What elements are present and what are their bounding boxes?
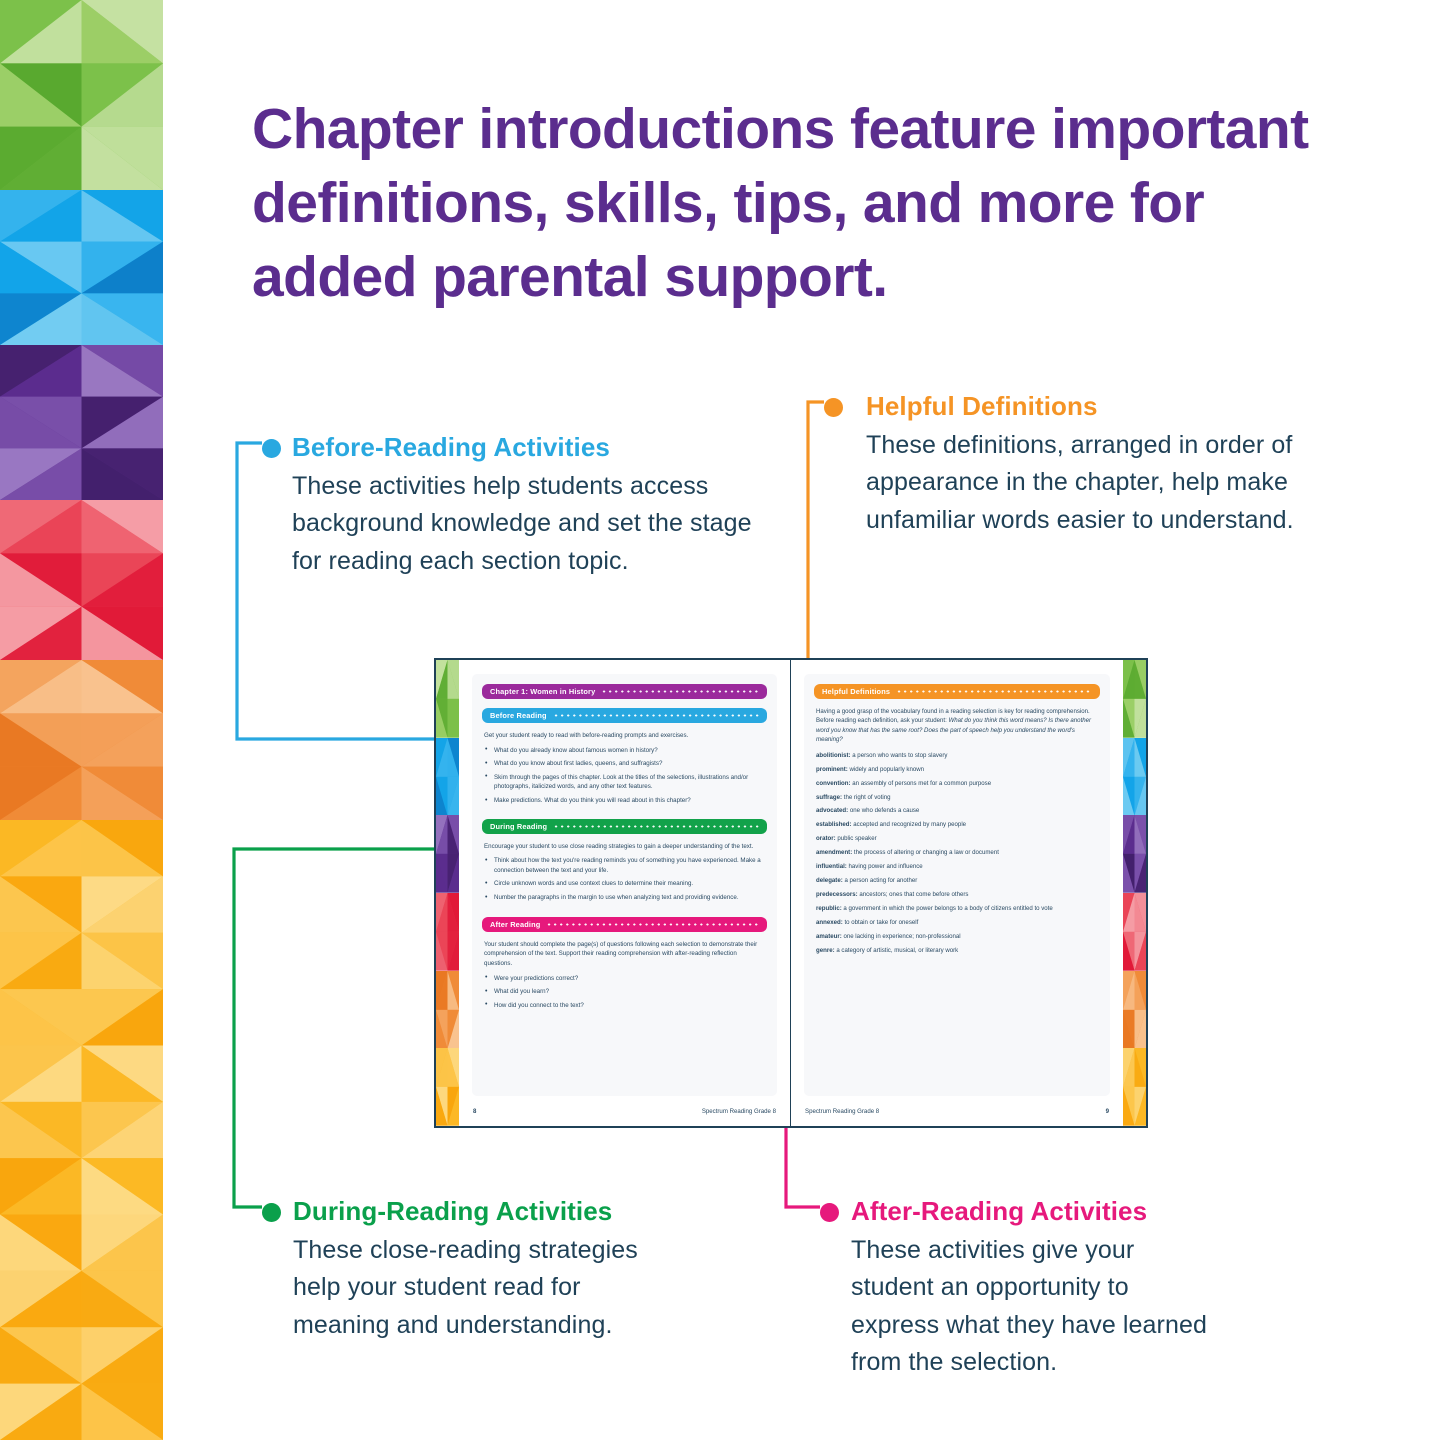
section-bar-dots — [546, 921, 759, 928]
page-edge-band-red — [436, 893, 459, 971]
section-bar-dots — [553, 712, 759, 719]
definition-row: predecessors: ancestors; ones that come … — [816, 891, 1098, 900]
section-intro: Encourage your student to use close read… — [484, 842, 765, 852]
definition-row: influential: having power and influence — [816, 863, 1098, 872]
list-item: What do you know about first ladies, que… — [482, 759, 767, 769]
page-edge-band-yellow — [436, 1048, 459, 1126]
definition-row: advocated: one who defends a cause — [816, 807, 1098, 816]
section-list-before: What do you already know about famous wo… — [482, 746, 767, 806]
page-content-panel: Helpful Definitions Having a good grasp … — [804, 674, 1110, 1096]
section-bar-dots — [553, 823, 759, 830]
callout-before-reading: Before-Reading Activities These activiti… — [292, 433, 762, 580]
callout-body: These definitions, arranged in order of … — [866, 427, 1356, 540]
callout-title: During-Reading Activities — [293, 1197, 653, 1226]
section-bar-label: Helpful Definitions — [822, 687, 890, 696]
page-edge-band-blue — [436, 738, 459, 816]
callout-helpful-definitions: Helpful Definitions These definitions, a… — [866, 392, 1356, 539]
callout-dot-before-icon — [262, 439, 281, 458]
callout-body: These close-reading strategies help your… — [293, 1232, 653, 1345]
list-item: Think about how the text you're reading … — [482, 856, 767, 875]
list-item: What do you already know about famous wo… — [482, 746, 767, 756]
definition-term: suffrage: — [816, 794, 842, 801]
definitions-list: abolitionist: a person who wants to stop… — [816, 752, 1098, 956]
book-spread-image: Chapter 1: Women in History Before Readi… — [434, 658, 1148, 1128]
definition-row: suffrage: the right of voting — [816, 794, 1098, 803]
callout-body: These activities give your student an op… — [851, 1232, 1211, 1382]
definition-term: amendment: — [816, 849, 852, 856]
callout-title: After-Reading Activities — [851, 1197, 1211, 1226]
section-bar-helpful-definitions: Helpful Definitions — [814, 684, 1100, 699]
definition-term: orator: — [816, 835, 836, 842]
page-edge-band-purple — [436, 815, 459, 893]
page-edge-band-red — [1123, 893, 1146, 971]
page-footer-right: Spectrum Reading Grade 8 9 — [791, 1096, 1123, 1126]
definition-term: republic: — [816, 905, 842, 912]
page-edge-band-green — [436, 660, 459, 738]
color-band-blue — [0, 190, 163, 345]
definition-row: amendment: the process of altering or ch… — [816, 849, 1098, 858]
list-item: Were your predictions correct? — [482, 974, 767, 984]
definition-term: abolitionist: — [816, 752, 851, 759]
page-edge-band-yellow — [1123, 1048, 1146, 1126]
definition-term: delegate: — [816, 877, 843, 884]
section-intro: Get your student ready to read with befo… — [484, 731, 765, 741]
page-edge-pattern — [1123, 660, 1146, 1126]
callout-dot-helpful-icon — [824, 398, 843, 417]
callout-title: Helpful Definitions — [866, 392, 1356, 421]
page-edge-band-orange — [1123, 971, 1146, 1049]
section-bar-chapter: Chapter 1: Women in History — [482, 684, 767, 699]
list-item: Skim through the pages of this chapter. … — [482, 773, 767, 792]
page-content-panel: Chapter 1: Women in History Before Readi… — [472, 674, 777, 1096]
callout-dot-during-icon — [262, 1203, 281, 1222]
page-edge-band-green — [1123, 660, 1146, 738]
definition-row: annexed: to obtain or take for oneself — [816, 919, 1098, 928]
page-number: 9 — [1106, 1108, 1109, 1115]
list-item: What did you learn? — [482, 987, 767, 997]
callout-after-reading: After-Reading Activities These activitie… — [851, 1197, 1211, 1382]
page-edge-band-blue — [1123, 738, 1146, 816]
definition-term: established: — [816, 821, 852, 828]
color-band-orange — [0, 660, 163, 820]
definition-row: republic: a government in which the powe… — [816, 905, 1098, 914]
page-number: 8 — [473, 1108, 476, 1115]
color-band-yellow — [0, 820, 163, 1440]
section-intro: Your student should complete the page(s)… — [484, 940, 765, 969]
callout-body: These activities help students access ba… — [292, 468, 762, 581]
definition-term: annexed: — [816, 919, 843, 926]
page-edge-band-orange — [436, 971, 459, 1049]
list-item: How did you connect to the text? — [482, 1001, 767, 1011]
decorative-color-bar — [0, 0, 163, 1440]
list-item: Number the paragraphs in the margin to u… — [482, 893, 767, 903]
definition-term: advocated: — [816, 807, 848, 814]
list-item: Make predictions. What do you think you … — [482, 796, 767, 806]
callout-title: Before-Reading Activities — [292, 433, 762, 462]
poster-canvas: Chapter introductions feature important … — [0, 0, 1440, 1440]
section-bar-label: Before Reading — [490, 711, 547, 720]
definition-row: genre: a category of artistic, musical, … — [816, 947, 1098, 956]
definition-row: orator: public speaker — [816, 835, 1098, 844]
callout-dot-after-icon — [820, 1203, 839, 1222]
section-bar-before-reading: Before Reading — [482, 708, 767, 723]
book-page-right: Helpful Definitions Having a good grasp … — [791, 660, 1146, 1126]
section-bar-label: During Reading — [490, 822, 547, 831]
section-list-after: Were your predictions correct? What did … — [482, 974, 767, 1011]
definitions-intro: Having a good grasp of the vocabulary fo… — [816, 707, 1098, 745]
definition-term: convention: — [816, 780, 851, 787]
definition-row: convention: an assembly of persons met f… — [816, 780, 1098, 789]
book-title-footer: Spectrum Reading Grade 8 — [805, 1108, 879, 1115]
definition-term: influential: — [816, 863, 847, 870]
page-title: Chapter introductions feature important … — [252, 92, 1322, 314]
definition-term: genre: — [816, 947, 835, 954]
book-title-footer: Spectrum Reading Grade 8 — [702, 1108, 776, 1115]
definition-term: predecessors: — [816, 891, 858, 898]
page-footer-left: 8 Spectrum Reading Grade 8 — [459, 1096, 790, 1126]
section-bar-label: Chapter 1: Women in History — [490, 687, 595, 696]
definition-row: amateur: one lacking in experience; non-… — [816, 933, 1098, 942]
definition-term: amateur: — [816, 933, 842, 940]
list-item: Circle unknown words and use context clu… — [482, 879, 767, 889]
definition-row: established: accepted and recognized by … — [816, 821, 1098, 830]
color-band-green — [0, 0, 163, 190]
definition-row: abolitionist: a person who wants to stop… — [816, 752, 1098, 761]
definition-term: prominent: — [816, 766, 848, 773]
section-bar-after-reading: After Reading — [482, 917, 767, 932]
page-edge-band-purple — [1123, 815, 1146, 893]
color-band-purple — [0, 345, 163, 500]
section-bar-during-reading: During Reading — [482, 819, 767, 834]
book-page-left: Chapter 1: Women in History Before Readi… — [436, 660, 791, 1126]
section-bar-dots — [601, 688, 759, 695]
section-list-during: Think about how the text you're reading … — [482, 856, 767, 902]
section-bar-label: After Reading — [490, 920, 540, 929]
color-band-red — [0, 500, 163, 660]
section-bar-dots — [896, 688, 1092, 695]
definition-row: prominent: widely and popularly known — [816, 766, 1098, 775]
definition-row: delegate: a person acting for another — [816, 877, 1098, 886]
callout-during-reading: During-Reading Activities These close-re… — [293, 1197, 653, 1344]
page-edge-pattern — [436, 660, 459, 1126]
